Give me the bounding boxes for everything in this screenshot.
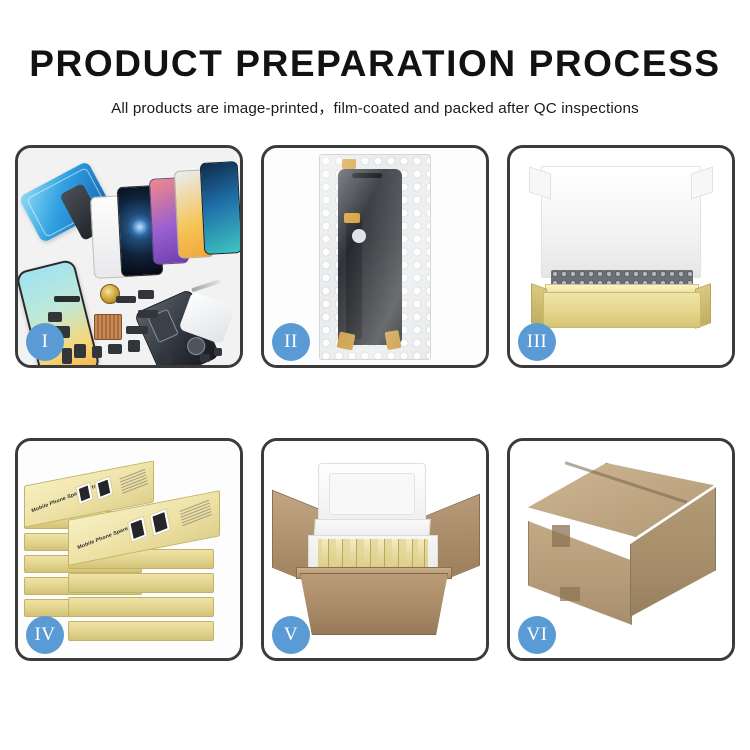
stacked-box [68,597,214,617]
component-part [126,326,148,334]
component-part [138,290,154,299]
process-steps-grid: I II [15,145,735,685]
step-badge-5: V [272,616,310,654]
carton-tape-patch [552,525,570,547]
foam-box-lid [318,463,426,525]
step-panel-6: VI [507,438,735,661]
product-preparation-process-page: PRODUCT PREPARATION PROCESS All products… [0,0,750,750]
component-part [62,348,72,364]
component-part [108,344,122,354]
component-part [48,312,62,322]
step-badge-6: VI [518,616,556,654]
component-part [92,346,102,358]
component-part [200,354,210,362]
page-subtitle: All products are image-printed，film-coat… [0,96,750,118]
component-part [158,354,172,364]
carton-left-face [528,521,632,625]
component-part [138,310,158,318]
carton-tape-patch [560,587,580,601]
step-panel-2: II [261,145,489,368]
stacked-box [68,573,214,593]
copper-chip-part [94,314,122,340]
open-carton-group [272,457,480,647]
open-box-group [529,166,713,346]
step-panel-1: I [15,145,243,368]
step-panel-3: III [507,145,735,368]
step-badge-4: IV [26,616,64,654]
sealed-carton-group [522,463,722,641]
step-badge-1: I [26,323,64,361]
box-front-yellow [543,292,701,328]
box-lid-white [541,166,701,278]
page-title: PRODUCT PREPARATION PROCESS [0,45,750,82]
step-badge-3: III [518,323,556,361]
step-panel-5: V [261,438,489,661]
component-part [74,344,86,358]
component-part [214,348,222,356]
component-part [128,340,140,352]
step-badge-2: II [272,323,310,361]
component-part [116,296,136,303]
plastic-sheen-overlay [320,155,430,359]
step-panel-4: Mobile Phone Spare Parts [15,438,243,661]
stacked-box [68,621,214,641]
carton-front-face [300,573,448,635]
earpiece-bar-part [54,296,80,302]
box-lid-flap-right [691,166,713,199]
bubble-wrap-package [319,154,431,360]
page-header: PRODUCT PREPARATION PROCESS All products… [0,0,750,118]
phone-display-teal [200,161,240,255]
